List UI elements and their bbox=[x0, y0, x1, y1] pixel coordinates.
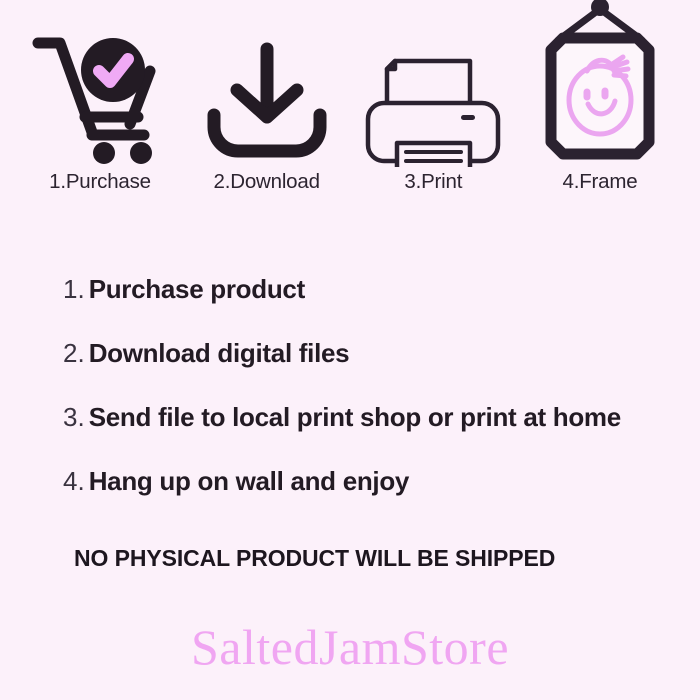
step-print-label: 3.Print bbox=[404, 170, 462, 194]
step-print-art bbox=[363, 25, 503, 167]
instruction-list: 1. Purchase product 2. Download digital … bbox=[63, 274, 663, 530]
instruction-item-1: 1. Purchase product bbox=[63, 274, 663, 338]
instruction-item-4: 4. Hang up on wall and enjoy bbox=[63, 466, 663, 530]
instruction-text: Send file to local print shop or print a… bbox=[89, 402, 621, 433]
disclaimer-text: NO PHYSICAL PRODUCT WILL BE SHIPPED bbox=[74, 545, 555, 572]
step-frame-art bbox=[531, 25, 669, 167]
hanging-picture-frame-icon bbox=[531, 0, 669, 167]
step-purchase-art bbox=[30, 25, 170, 167]
shopping-cart-check-icon bbox=[30, 31, 170, 167]
step-download-label: 2.Download bbox=[214, 170, 320, 194]
printer-slot-icon bbox=[461, 115, 475, 120]
printer-icon bbox=[363, 33, 503, 167]
instruction-number: 1. bbox=[63, 274, 85, 305]
cart-wheel-right-icon bbox=[130, 142, 152, 164]
steps-strip: 1.Purchase 2.Download bbox=[0, 14, 700, 194]
instruction-item-3: 3. Send file to local print shop or prin… bbox=[63, 402, 663, 466]
download-icon bbox=[201, 37, 333, 167]
instruction-number: 3. bbox=[63, 402, 85, 433]
step-purchase: 1.Purchase bbox=[24, 25, 176, 194]
step-download-art bbox=[201, 25, 333, 167]
instruction-item-2: 2. Download digital files bbox=[63, 338, 663, 402]
instruction-text: Download digital files bbox=[89, 338, 350, 369]
step-purchase-label: 1.Purchase bbox=[49, 170, 151, 194]
instruction-text: Hang up on wall and enjoy bbox=[89, 466, 409, 497]
instruction-number: 4. bbox=[63, 466, 85, 497]
step-frame-label: 4.Frame bbox=[563, 170, 638, 194]
step-download: 2.Download bbox=[191, 25, 343, 194]
step-print: 3.Print bbox=[357, 25, 509, 194]
brand-name: SaltedJamStore bbox=[0, 618, 700, 676]
instruction-number: 2. bbox=[63, 338, 85, 369]
instruction-text: Purchase product bbox=[89, 274, 305, 305]
frame-border bbox=[551, 38, 649, 154]
cart-wheel-left-icon bbox=[93, 142, 115, 164]
step-frame: 4.Frame bbox=[524, 25, 676, 194]
